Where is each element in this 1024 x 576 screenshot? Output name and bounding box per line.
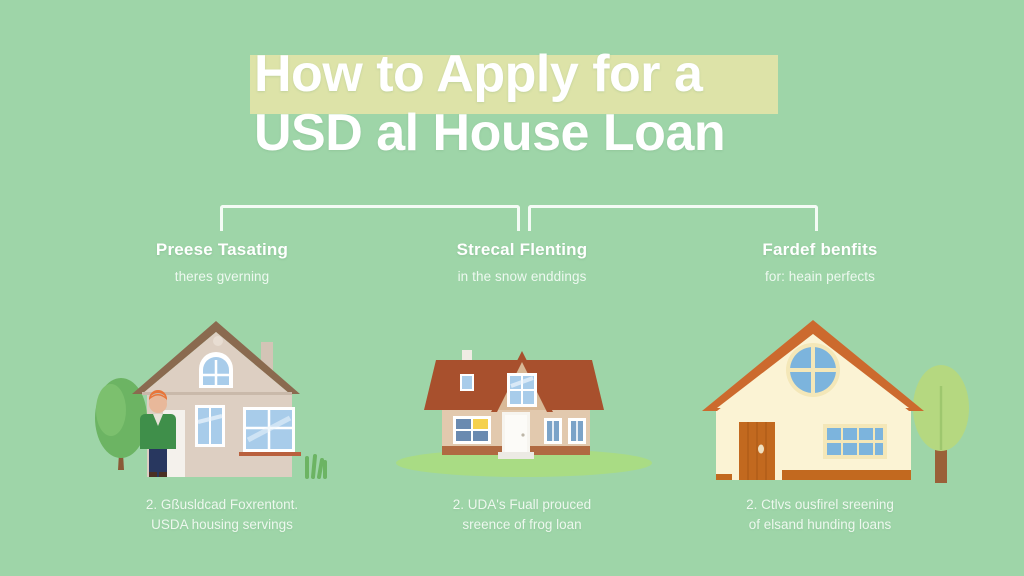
page-title-line-2: USD al House Loan: [250, 103, 950, 163]
column-3-subheading: for: heain perfects: [660, 269, 980, 284]
window-left: [195, 405, 225, 447]
illustration-house-2: [392, 338, 657, 485]
column-1: Preese Tasating theres gverning 2. Gßusl…: [62, 240, 382, 284]
illustration-house-1: [85, 310, 350, 485]
column-1-caption-line-2: USDA housing servings: [62, 515, 382, 535]
connector-bracket-right: [528, 205, 818, 231]
grass-tuft: [307, 456, 325, 477]
column-1-subheading: theres gverning: [62, 269, 382, 284]
column-1-heading: Preese Tasating: [62, 240, 382, 260]
column-1-caption-line-1: 2. Gßusldcad Foxrentont.: [62, 495, 382, 515]
column-2: Strecal Flenting in the snow enddings 2.…: [362, 240, 682, 284]
foundation-left: [716, 474, 732, 480]
column-2-caption-line-1: 2. UDA's Fuall prouced: [362, 495, 682, 515]
connector-bracket-left: [220, 205, 520, 231]
front-door: [498, 412, 534, 459]
column-2-caption: 2. UDA's Fuall prouced sreence of frog l…: [362, 495, 682, 535]
column-1-caption: 2. Gßusldcad Foxrentont. USDA housing se…: [62, 495, 382, 535]
lit-window-pane: [472, 419, 488, 429]
arched-window: [199, 352, 233, 388]
window-left: [453, 416, 491, 444]
porch-band: [782, 470, 911, 480]
illustration-house-3: [692, 308, 984, 485]
window-sill: [239, 452, 301, 456]
column-2-subheading: in the snow enddings: [362, 269, 682, 284]
column-3: Fardef benfits for: heain perfects 2. Ct…: [660, 240, 980, 284]
tree-icon: [913, 365, 969, 483]
column-3-caption-line-1: 2. Ctlvs ousfirel sreening: [660, 495, 980, 515]
house-3-svg: [692, 308, 984, 485]
door-step: [498, 452, 534, 459]
column-2-heading: Strecal Flenting: [362, 240, 682, 260]
page-title-line-1: How to Apply for a: [250, 44, 950, 104]
window-right: [239, 407, 301, 456]
column-2-caption-line-2: sreence of frog loan: [362, 515, 682, 535]
title-block: How to Apply for a USD al House Loan: [250, 44, 950, 184]
infographic-canvas: How to Apply for a USD al House Loan Pre…: [0, 0, 1024, 576]
column-3-caption-line-2: of elsand hunding loans: [660, 515, 980, 535]
house-1-svg: [85, 310, 350, 485]
attic-vent: [213, 336, 223, 346]
house-2-svg: [392, 338, 657, 485]
column-3-heading: Fardef benfits: [660, 240, 980, 260]
round-window: [786, 343, 840, 397]
column-3-caption: 2. Ctlvs ousfirel sreening of elsand hun…: [660, 495, 980, 535]
door-handle: [758, 445, 764, 454]
multi-pane-window: [823, 424, 887, 459]
front-door: [739, 422, 775, 480]
